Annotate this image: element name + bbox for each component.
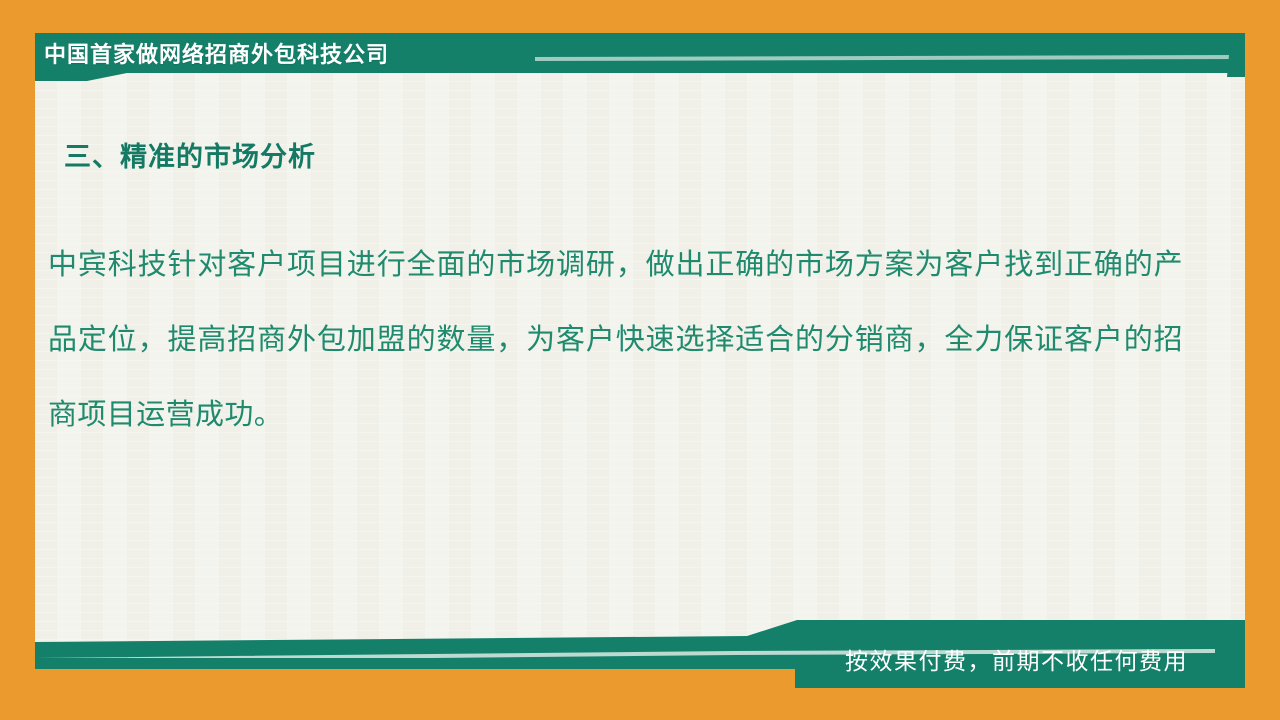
header-title: 中国首家做网络招商外包科技公司 [44, 38, 389, 72]
body-paragraph: 中宾科技针对客户项目进行全面的市场调研，做出正确的市场方案为客户找到正确的产品定… [48, 228, 1183, 453]
page-title: 三、精准的市场分析 [64, 137, 316, 177]
slide: 中国首家做网络招商外包科技公司 三、精准的市场分析 中宾科技针对客户项目进行全面… [0, 0, 1280, 720]
footer-tagline: 按效果付费，前期不收任何费用 [845, 645, 1188, 677]
